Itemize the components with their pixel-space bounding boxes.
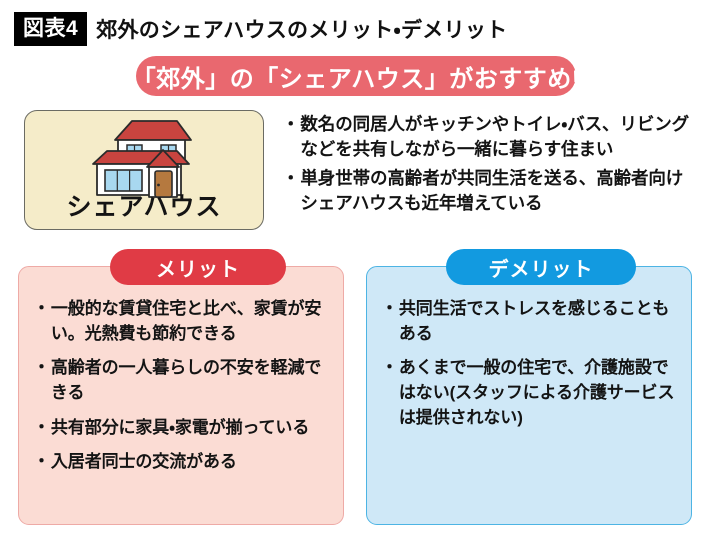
list-item-text: 共有部分に家具・家電が揃っている <box>51 416 331 441</box>
merit-badge-label: メリット <box>156 253 240 282</box>
list-item: ・ 単身世帯の高齢者が共同生活を送る、高齢者向けシェアハウスも近年増えている <box>282 166 696 216</box>
share-house-card-label: シェアハウス <box>25 187 263 223</box>
header: 図表4 郊外のシェアハウスのメリット・デメリット <box>14 12 508 46</box>
recommendation-banner-label: 「郊外」の「シェアハウス」がおすすめ! <box>132 59 581 94</box>
list-item-text: 入居者同士の交流がある <box>51 450 331 475</box>
bullet-dot: ・ <box>33 416 50 441</box>
list-item: ・ あくまで一般の住宅で、介護施設ではない(スタッフによる介護サービスは提供され… <box>381 356 679 430</box>
demerit-panel: ・ 共同生活でストレスを感じることもある ・ あくまで一般の住宅で、介護施設では… <box>366 266 692 525</box>
page-title: 郊外のシェアハウスのメリット・デメリット <box>96 14 507 44</box>
list-item-text: 単身世帯の高齢者が共同生活を送る、高齢者向けシェアハウスも近年増えている <box>300 166 696 216</box>
merit-bullet-list: ・ 一般的な賃貸住宅と比べ、家賃が安い。光熱費も節約できる ・ 高齢者の一人暮ら… <box>33 297 331 485</box>
list-item: ・ 一般的な賃貸住宅と比べ、家賃が安い。光熱費も節約できる <box>33 297 331 346</box>
list-item-text: あくまで一般の住宅で、介護施設ではない(スタッフによる介護サービスは提供されない… <box>399 356 679 430</box>
list-item-text: 数名の同居人がキッチンやトイレ・バス、リビングなどを共有しながら一緒に暮らす住ま… <box>300 112 696 162</box>
merit-badge: メリット <box>110 249 286 285</box>
bullet-dot: ・ <box>33 356 50 405</box>
intro-bullet-list: ・ 数名の同居人がキッチンやトイレ・バス、リビングなどを共有しながら一緒に暮らす… <box>282 112 696 219</box>
bullet-dot: ・ <box>33 297 50 346</box>
demerit-badge-label: デメリット <box>489 253 594 282</box>
bullet-dot: ・ <box>282 112 299 162</box>
list-item-text: 共同生活でストレスを感じることもある <box>399 297 679 346</box>
list-item: ・ 高齢者の一人暮らしの不安を軽減できる <box>33 356 331 405</box>
merit-panel: ・ 一般的な賃貸住宅と比べ、家賃が安い。光熱費も節約できる ・ 高齢者の一人暮ら… <box>18 266 344 525</box>
list-item-text: 高齢者の一人暮らしの不安を軽減できる <box>51 356 331 405</box>
demerit-badge: デメリット <box>446 249 636 285</box>
list-item: ・ 共有部分に家具・家電が揃っている <box>33 416 331 441</box>
share-house-card: シェアハウス <box>24 110 264 230</box>
list-item-text: 一般的な賃貸住宅と比べ、家賃が安い。光熱費も節約できる <box>51 297 331 346</box>
list-item: ・ 入居者同士の交流がある <box>33 450 331 475</box>
bullet-dot: ・ <box>381 356 398 430</box>
recommendation-banner: 「郊外」の「シェアハウス」がおすすめ! <box>136 56 576 96</box>
bullet-dot: ・ <box>33 450 50 475</box>
bullet-dot: ・ <box>282 166 299 216</box>
list-item: ・ 共同生活でストレスを感じることもある <box>381 297 679 346</box>
bullet-dot: ・ <box>381 297 398 346</box>
figure-number-badge: 図表4 <box>14 12 87 46</box>
list-item: ・ 数名の同居人がキッチンやトイレ・バス、リビングなどを共有しながら一緒に暮らす… <box>282 112 696 162</box>
demerit-bullet-list: ・ 共同生活でストレスを感じることもある ・ あくまで一般の住宅で、介護施設では… <box>381 297 679 440</box>
